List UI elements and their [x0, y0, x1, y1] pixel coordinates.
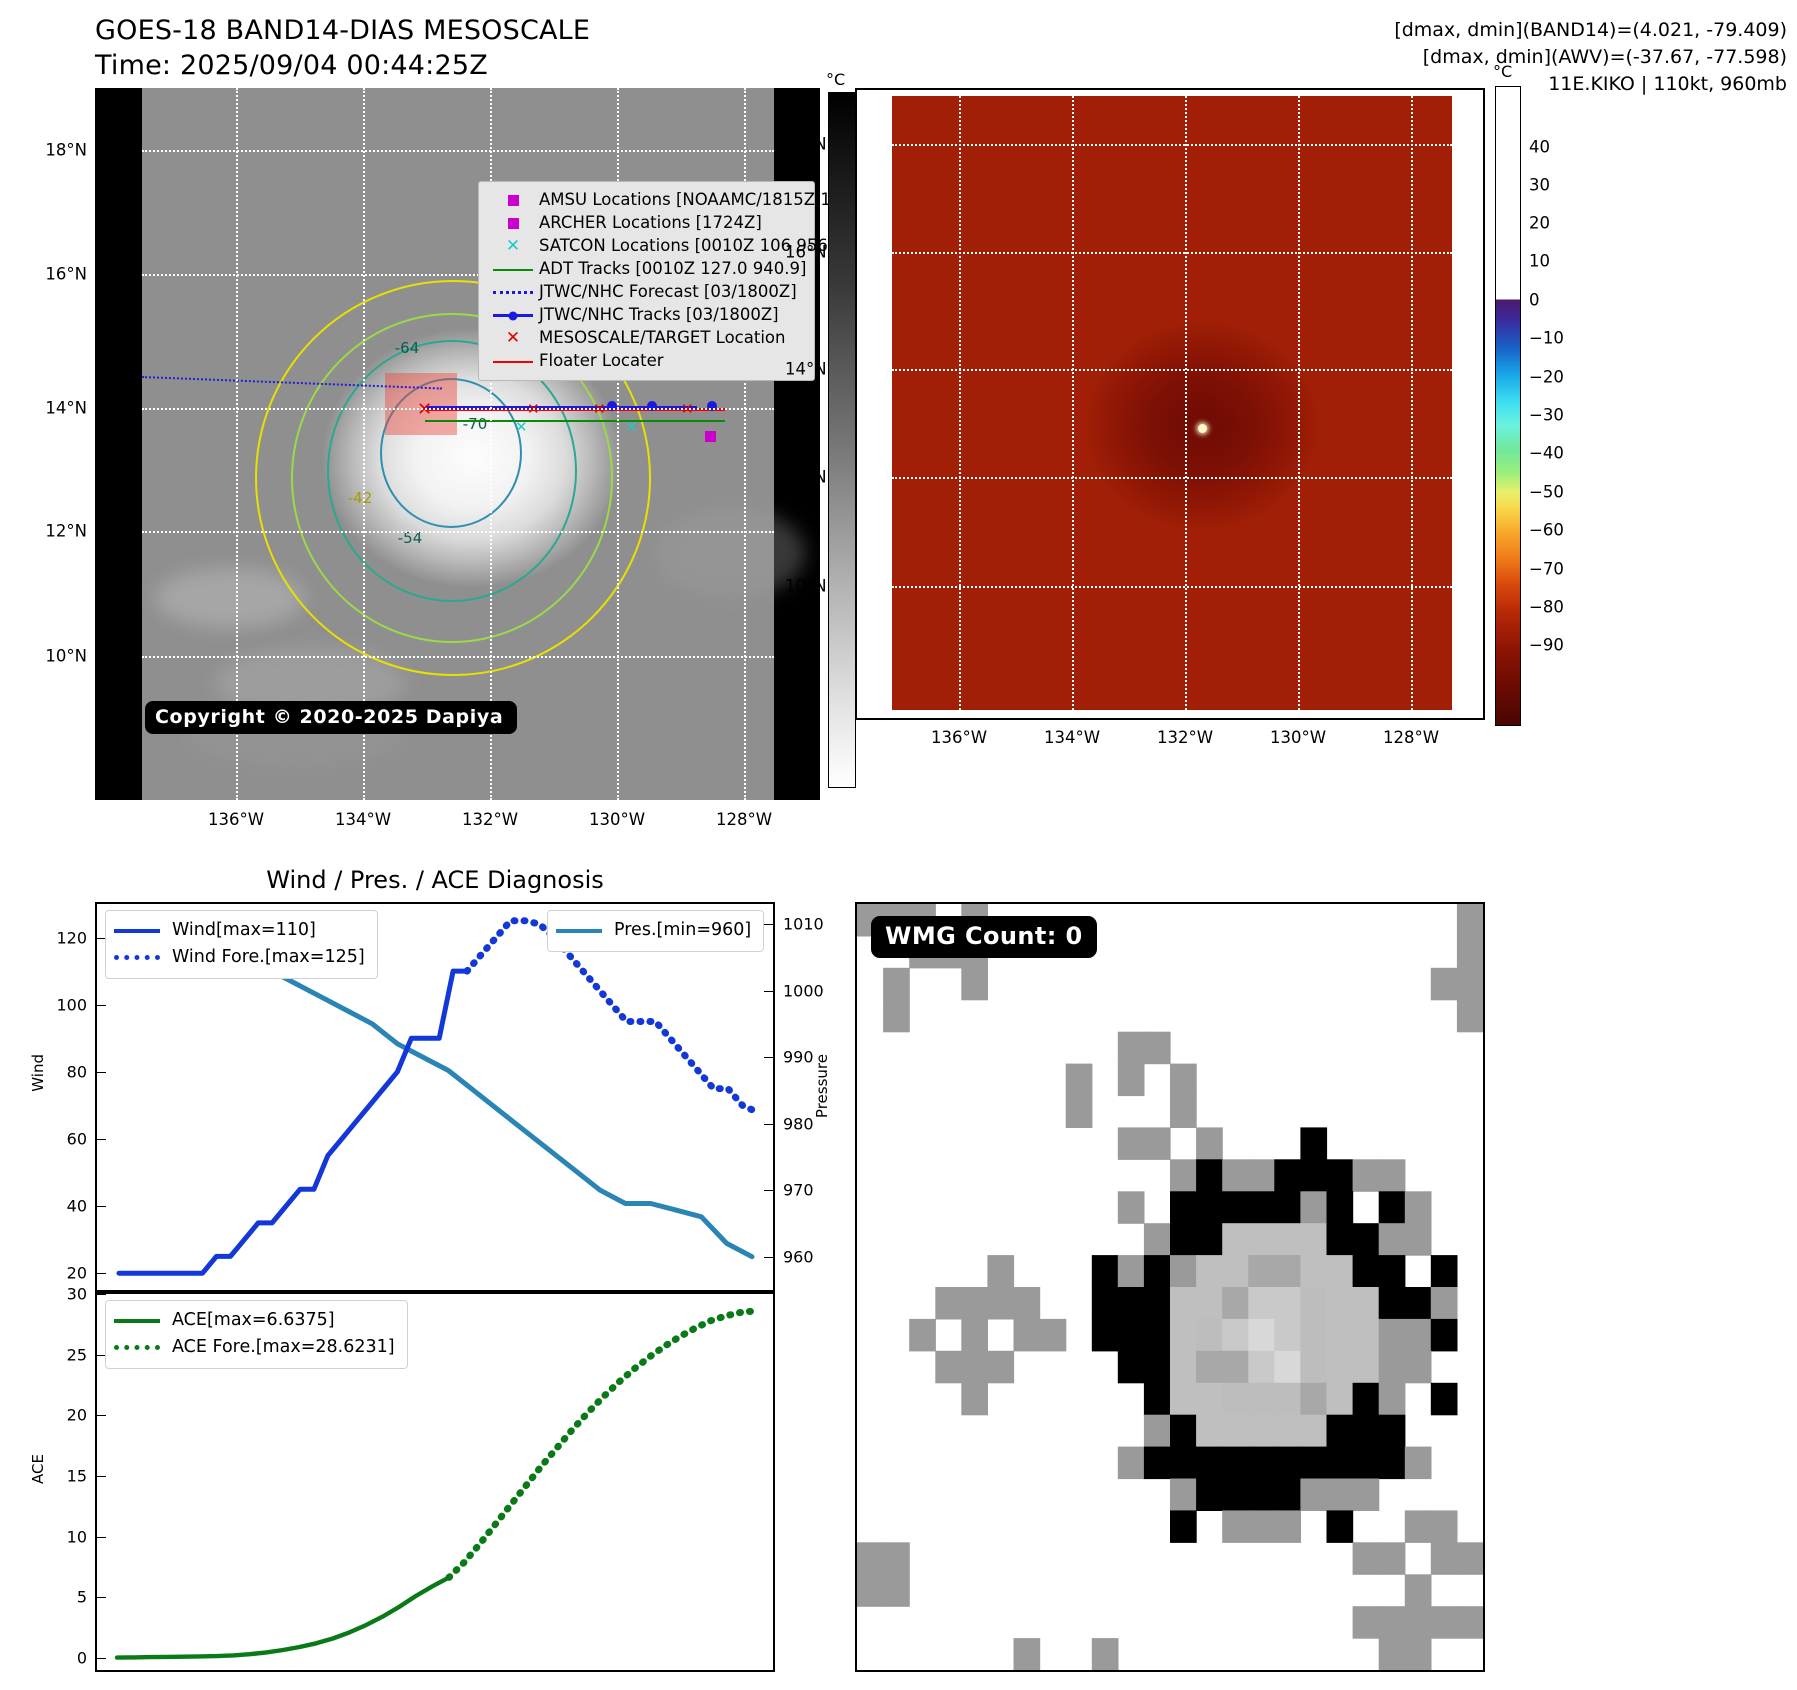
wmg-cell	[961, 1351, 988, 1384]
wmg-cell	[1379, 1351, 1406, 1384]
wmg-cell	[1405, 1223, 1432, 1256]
wmg-cell	[1431, 1255, 1458, 1288]
wmg-cell	[1014, 1638, 1041, 1670]
wmg-cell	[1118, 1032, 1145, 1065]
wmg-cell	[1222, 1287, 1249, 1320]
colorbar-tick: −70	[1529, 559, 1564, 578]
wmg-cell	[1040, 1319, 1067, 1352]
wmg-cell	[1196, 1191, 1223, 1224]
wmg-cell	[1327, 1351, 1354, 1384]
legend-label: JTWC/NHC Forecast [03/1800Z]	[539, 284, 797, 301]
axis-tick-mark	[97, 1294, 106, 1295]
wmg-cell	[961, 1287, 988, 1320]
blue-dotted-line-icon	[487, 291, 539, 294]
wmg-cell	[1144, 1223, 1171, 1256]
ir-map-legend[interactable]: AMSU Locations [NOAAMC/1815Z 104 973] AR…	[478, 181, 815, 381]
ir-enhanced-image	[892, 96, 1452, 710]
wmg-cell	[1196, 1479, 1223, 1512]
wmg-cell	[1353, 1447, 1380, 1480]
gridline-vertical	[1185, 96, 1187, 710]
wmg-cell	[1353, 1255, 1380, 1288]
pressure-legend[interactable]: Pres.[min=960]	[547, 910, 764, 952]
wmg-cell	[1327, 1479, 1354, 1512]
wmg-cell	[1222, 1351, 1249, 1384]
wmg-cell	[935, 1351, 962, 1384]
legend-item-satcon[interactable]: ✕ SATCON Locations [0010Z 106 956]	[487, 235, 808, 258]
gridline-vertical	[363, 88, 365, 800]
wmg-cell	[1379, 1223, 1406, 1256]
gridline-horizontal	[142, 531, 774, 533]
wmg-cell	[1144, 1127, 1171, 1160]
wmg-cell	[1274, 1255, 1301, 1288]
wmg-cell	[1248, 1510, 1275, 1543]
wmg-cell	[1118, 1319, 1145, 1352]
wmg-cell	[1248, 1415, 1275, 1448]
wmg-cell	[1353, 1542, 1380, 1575]
green-line-icon	[487, 269, 539, 271]
gridline-vertical	[236, 88, 238, 800]
wmg-cell	[1405, 1319, 1432, 1352]
lat-tick: 18°N	[45, 141, 87, 160]
ir-greyscale-panel[interactable]: -64 -70 -54 -42 ✕ ✕ ✕ ✕ ✕ ✕ Copyright © …	[95, 88, 820, 800]
wmg-cell	[1196, 1223, 1223, 1256]
wmg-cell	[1170, 1351, 1197, 1384]
axis-tick-mark	[97, 1415, 106, 1416]
red-line-icon	[487, 361, 539, 363]
axis-tick-label: 1010	[783, 914, 824, 933]
lat-tick: 12°N	[45, 522, 87, 541]
wmg-cell	[1379, 1255, 1406, 1288]
wmg-cell	[1431, 1606, 1458, 1639]
wmg-cell	[1118, 1127, 1145, 1160]
stats-awv: [dmax, dmin](AWV)=(-37.67, -77.598)	[1394, 44, 1787, 71]
ace-chart[interactable]: ACE 051015202530 ACE[max=6.6375] ACE For…	[95, 1292, 775, 1672]
axis-tick-label: 100	[56, 995, 87, 1014]
wmg-cell	[1379, 1542, 1406, 1575]
legend-label: Pres.[min=960]	[614, 922, 751, 940]
wmg-cell	[1353, 1287, 1380, 1320]
wmg-cell	[1405, 1606, 1432, 1639]
axis-tick-mark	[97, 1206, 106, 1207]
wmg-cell	[1405, 1447, 1432, 1480]
axis-tick-mark	[764, 991, 773, 992]
wmg-cell	[1144, 1287, 1171, 1320]
legend-item-forecast[interactable]: JTWC/NHC Forecast [03/1800Z]	[487, 281, 808, 304]
wmg-cell	[1274, 1191, 1301, 1224]
wmg-bitmap	[857, 904, 1483, 1670]
wmg-cell	[1092, 1287, 1119, 1320]
axis-tick-label: 960	[783, 1247, 814, 1266]
colorbar-tick: −60	[1529, 521, 1564, 540]
wmg-cell	[1144, 1255, 1171, 1288]
axis-tick-mark	[97, 1597, 106, 1598]
colorbar-tick: 0	[1529, 290, 1540, 309]
axis-tick-mark	[764, 1057, 773, 1058]
wmg-cell	[1248, 1255, 1275, 1288]
wmg-cell	[883, 1000, 910, 1033]
wmg-cell	[1118, 1287, 1145, 1320]
wmg-cell	[1118, 1447, 1145, 1480]
wmg-cell	[1300, 1159, 1327, 1192]
wmg-cell	[1457, 936, 1483, 969]
wmg-cell	[1118, 1191, 1145, 1224]
wmg-cell	[1222, 1383, 1249, 1416]
wmg-cell	[1248, 1159, 1275, 1192]
wmg-cell	[1379, 1159, 1406, 1192]
wmg-cell	[1248, 1479, 1275, 1512]
gridline-horizontal	[142, 408, 774, 410]
legend-label: ADT Tracks [0010Z 127.0 940.9]	[539, 261, 806, 278]
axis-tick-label: 0	[77, 1648, 87, 1667]
wmg-cell	[1248, 1287, 1275, 1320]
wmg-cell	[1170, 1319, 1197, 1352]
cloud-wisp	[655, 508, 805, 598]
wmg-cell	[1118, 1351, 1145, 1384]
wmg-cell	[1066, 1096, 1093, 1129]
wmg-cell	[1196, 1319, 1223, 1352]
axis-tick-mark	[97, 1273, 106, 1274]
legend-item-wind[interactable]: Wind[max=110]	[114, 917, 365, 944]
wmg-cell	[1170, 1064, 1197, 1097]
wmg-cell	[1327, 1415, 1354, 1448]
wmg-cell	[1300, 1479, 1327, 1512]
wmg-cell	[987, 1351, 1014, 1384]
wmg-cell	[1248, 1191, 1275, 1224]
colorbar-tick: 40	[1529, 137, 1550, 156]
page-title: GOES-18 BAND14-DIAS MESOSCALE Time: 2025…	[95, 14, 590, 83]
wmg-cell	[1353, 1223, 1380, 1256]
wmg-cell	[1379, 1606, 1406, 1639]
wmg-cell	[1196, 1351, 1223, 1384]
gridline-horizontal	[142, 150, 774, 152]
axis-tick-label: 120	[56, 928, 87, 947]
satcon-location-marker: ✕	[515, 418, 528, 436]
wmg-cell	[1092, 1638, 1119, 1670]
amsu-location-marker	[705, 431, 716, 442]
wmg-cell	[1222, 1223, 1249, 1256]
axis-tick-label: 15	[67, 1466, 87, 1485]
wmg-cell	[1457, 1606, 1483, 1639]
wmg-cell	[1222, 1191, 1249, 1224]
wmg-cell	[1274, 1447, 1301, 1480]
colorbar-tick: −90	[1529, 636, 1564, 655]
axis-tick-mark	[97, 1476, 106, 1477]
wmg-cell	[1274, 1383, 1301, 1416]
wmg-cell	[1222, 1415, 1249, 1448]
lat-tick: 10°N	[785, 577, 827, 596]
wmg-cell	[1170, 1447, 1197, 1480]
wmg-cell	[1300, 1287, 1327, 1320]
stats-band14: [dmax, dmin](BAND14)=(4.021, -79.409)	[1394, 17, 1787, 44]
wmg-cell	[1405, 1351, 1432, 1384]
wmg-cell	[1274, 1415, 1301, 1448]
axis-tick-label: 20	[67, 1264, 87, 1283]
wmg-cell	[1431, 968, 1458, 1001]
wmg-cell	[1431, 1319, 1458, 1352]
axis-tick-label: 20	[67, 1406, 87, 1425]
green-dotted-line-icon	[114, 1345, 172, 1350]
wmg-cell	[1353, 1159, 1380, 1192]
colorbar-tick: 20	[1529, 213, 1550, 232]
wmg-cell	[1222, 1510, 1249, 1543]
legend-item-tracks[interactable]: JTWC/NHC Tracks [03/1800Z]	[487, 304, 808, 327]
wmg-cell	[1014, 1319, 1041, 1352]
axis-tick-mark	[97, 1537, 106, 1538]
lat-tick: 12°N	[785, 468, 827, 487]
gridline-horizontal	[892, 252, 1452, 254]
wmg-cell	[1248, 1319, 1275, 1352]
wmg-cell	[1379, 1191, 1406, 1224]
wmg-cell	[1327, 1191, 1354, 1224]
pressure-axis-label: Pressure	[813, 1054, 831, 1118]
colorbar-tick: −10	[1529, 329, 1564, 348]
legend-label: Floater Locater	[539, 353, 664, 370]
legend-item-ace-forecast[interactable]: ACE Fore.[max=28.6231]	[114, 1334, 395, 1361]
wmg-cell	[1196, 1127, 1223, 1160]
axis-tick-label: 10	[67, 1527, 87, 1546]
blue-marker-line-icon	[487, 314, 539, 317]
wmg-cell	[1274, 1479, 1301, 1512]
wmg-cell	[1353, 1351, 1380, 1384]
wmg-cell	[857, 1542, 884, 1575]
wmg-cell	[1353, 1479, 1380, 1512]
green-solid-line-icon	[114, 1319, 172, 1323]
wmg-cell	[1405, 1510, 1432, 1543]
wmg-cell	[1170, 1096, 1197, 1129]
wmg-cell	[1300, 1383, 1327, 1416]
colorbar-tick: −50	[1529, 482, 1564, 501]
wmg-cell	[1300, 1191, 1327, 1224]
wmg-cell	[1248, 1447, 1275, 1480]
axis-tick-label: 30	[67, 1285, 87, 1304]
wmg-cell	[1405, 1191, 1432, 1224]
legend-item-archer[interactable]: ARCHER Locations [1724Z]	[487, 212, 808, 235]
wmg-cell	[1170, 1223, 1197, 1256]
wmg-cell	[1144, 1415, 1171, 1448]
axis-tick-label: 5	[77, 1588, 87, 1607]
wmg-cell	[883, 1574, 910, 1607]
axis-tick-mark	[764, 1257, 773, 1258]
wmg-cell	[1327, 1255, 1354, 1288]
axis-tick-label: 970	[783, 1181, 814, 1200]
lon-tick: 136°W	[208, 810, 264, 829]
wmg-cell	[1327, 1223, 1354, 1256]
legend-item-floater[interactable]: Floater Locater	[487, 350, 808, 373]
wmg-cell	[909, 1319, 936, 1352]
wmg-cell	[1222, 1159, 1249, 1192]
wmg-cell	[1300, 1319, 1327, 1352]
legend-label: JTWC/NHC Tracks [03/1800Z]	[539, 307, 779, 324]
wmg-cell	[1431, 1510, 1458, 1543]
colorbar-tick: −20	[1529, 367, 1564, 386]
blue-solid-line-icon	[114, 929, 172, 933]
wmg-cell	[1170, 1415, 1197, 1448]
wmg-cell	[1118, 1255, 1145, 1288]
legend-label: MESOSCALE/TARGET Location	[539, 330, 785, 347]
wmg-cell	[1274, 1510, 1301, 1543]
lat-tick: 14°N	[45, 399, 87, 418]
wmg-cell	[1274, 1351, 1301, 1384]
adt-track-line	[425, 420, 725, 422]
wmg-cell	[1170, 1191, 1197, 1224]
wmg-cell	[1144, 1319, 1171, 1352]
wmg-cell	[1300, 1255, 1327, 1288]
ace-axis-label: ACE	[29, 1454, 47, 1484]
lat-tick: 10°N	[45, 647, 87, 666]
wmg-count-badge: WMG Count: 0	[871, 916, 1097, 958]
wmg-cell	[1457, 1000, 1483, 1033]
wmg-cell	[1196, 1383, 1223, 1416]
wmg-cell	[1405, 1287, 1432, 1320]
wmg-cell	[1222, 1447, 1249, 1480]
wmg-cell	[1327, 1319, 1354, 1352]
wmg-cell	[1274, 1319, 1301, 1352]
legend-item-adt[interactable]: ADT Tracks [0010Z 127.0 940.9]	[487, 258, 808, 281]
legend-label: ACE[max=6.6375]	[172, 1312, 335, 1330]
colorbar-units: °C	[826, 70, 845, 89]
colorbar-tick: 30	[1529, 175, 1550, 194]
lon-tick: 134°W	[1044, 728, 1100, 747]
gridline-vertical	[1298, 96, 1300, 710]
blue-dotted-line-icon	[114, 955, 172, 960]
contour-label-64: -64	[395, 339, 420, 357]
lon-tick: 134°W	[335, 810, 391, 829]
gridline-horizontal	[892, 144, 1452, 146]
lat-tick: 16°N	[785, 243, 827, 262]
wmg-cell	[1353, 1606, 1380, 1639]
gridline-horizontal	[892, 477, 1452, 479]
lat-tick: 16°N	[45, 265, 87, 284]
wmg-cell	[1222, 1319, 1249, 1352]
gridline-vertical	[1072, 96, 1074, 710]
colorbar-tick: −30	[1529, 405, 1564, 424]
wmg-cell	[1222, 1479, 1249, 1512]
wmg-cell	[1457, 968, 1483, 1001]
legend-item-wind-forecast[interactable]: Wind Fore.[max=125]	[114, 944, 365, 971]
wmg-cell	[1405, 1638, 1432, 1670]
satellite-title: GOES-18 BAND14-DIAS MESOSCALE	[95, 14, 590, 49]
colorbar-tick: −40	[1529, 444, 1564, 463]
axis-tick-label: 40	[67, 1197, 87, 1216]
wmg-cell	[1170, 1479, 1197, 1512]
wmg-cell	[1092, 1319, 1119, 1352]
legend-label: ARCHER Locations [1724Z]	[539, 215, 762, 232]
contour-label-70: -70	[463, 415, 488, 433]
gridline-horizontal	[142, 656, 774, 658]
wmg-cell	[1327, 1510, 1354, 1543]
wmg-cell	[1092, 1255, 1119, 1288]
wmg-cell	[883, 1542, 910, 1575]
wmg-cell	[1222, 1255, 1249, 1288]
wmg-cell	[1379, 1287, 1406, 1320]
storm-eye-marker	[1198, 424, 1207, 433]
wmg-cell	[1379, 1319, 1406, 1352]
cyan-x-icon: ✕	[487, 238, 539, 255]
wmg-cell	[1405, 1574, 1432, 1607]
teal-solid-line-icon	[556, 929, 614, 933]
wmg-cell	[1431, 1383, 1458, 1416]
wmg-cell	[1196, 1415, 1223, 1448]
wind-pressure-chart[interactable]: Wind Pressure 20406080100120 96097098099…	[95, 902, 775, 1292]
ace-legend[interactable]: ACE[max=6.6375] ACE Fore.[max=28.6231]	[105, 1300, 408, 1369]
axis-tick-mark	[97, 1005, 106, 1006]
magenta-square-icon	[487, 195, 539, 206]
wmg-cell	[1353, 1415, 1380, 1448]
wmg-cell	[857, 1574, 884, 1607]
wmg-cell	[883, 968, 910, 1001]
axis-tick-mark	[764, 1190, 773, 1191]
axis-tick-mark	[764, 1124, 773, 1125]
wmg-cell	[1300, 1351, 1327, 1384]
wmg-cell	[1327, 1287, 1354, 1320]
legend-item-mesoscale[interactable]: ✕ MESOSCALE/TARGET Location	[487, 327, 808, 350]
wmg-cell	[1196, 1287, 1223, 1320]
copyright-notice: Copyright © 2020-2025 Dapiya	[145, 701, 517, 734]
lat-tick: 18°N	[785, 135, 827, 154]
colorbar-enhanced[interactable]: °C 40 30 20 10 0 −10 −20 −30 −40 −50 −60…	[1495, 62, 1535, 742]
colorbar-ticks: 40 30 20 10 0 −10 −20 −30 −40 −50 −60 −7…	[828, 92, 856, 788]
legend-item-ace[interactable]: ACE[max=6.6375]	[114, 1307, 395, 1334]
wmg-cell	[1300, 1127, 1327, 1160]
contour-label-42: -42	[348, 489, 373, 507]
wmg-cell	[1274, 1159, 1301, 1192]
wmg-cell	[1274, 1287, 1301, 1320]
wmg-cell	[1431, 1287, 1458, 1320]
wmg-cell	[1353, 1319, 1380, 1352]
lon-tick: 128°W	[1383, 728, 1439, 747]
legend-item-pressure[interactable]: Pres.[min=960]	[556, 917, 751, 944]
wmg-cell	[1327, 1447, 1354, 1480]
wmg-cell	[1170, 1383, 1197, 1416]
wind-legend[interactable]: Wind[max=110] Wind Fore.[max=125]	[105, 910, 378, 979]
wmg-cell	[961, 1383, 988, 1416]
wmg-cell	[1014, 1287, 1041, 1320]
satcon-location-marker: ✕	[625, 418, 638, 436]
wmg-panel[interactable]: WMG Count: 0	[855, 902, 1485, 1672]
timestamp: Time: 2025/09/04 00:44:25Z	[95, 49, 590, 84]
legend-item-amsu[interactable]: AMSU Locations [NOAAMC/1815Z 104 973]	[487, 189, 808, 212]
legend-label: ACE Fore.[max=28.6231]	[172, 1339, 395, 1357]
wmg-cell	[1300, 1223, 1327, 1256]
wmg-cell	[1457, 1542, 1483, 1575]
wmg-cell	[1457, 904, 1483, 937]
magenta-square-icon	[487, 218, 539, 229]
axis-tick-mark	[97, 1072, 106, 1073]
wmg-cell	[1144, 1032, 1171, 1065]
ir-enhanced-panel[interactable]: 18°N 16°N 14°N 12°N 10°N 136°W 134°W 132…	[855, 88, 1485, 720]
wmg-cell	[987, 1255, 1014, 1288]
wmg-cell	[1170, 1255, 1197, 1288]
colorbar-ticks: 40 30 20 10 0 −10 −20 −30 −40 −50 −60 −7…	[1495, 86, 1521, 726]
lat-tick: 14°N	[785, 360, 827, 379]
wmg-cell	[1170, 1510, 1197, 1543]
wmg-cell	[1196, 1159, 1223, 1192]
wmg-cell	[935, 1287, 962, 1320]
wmg-cell	[1327, 1383, 1354, 1416]
wmg-cell	[1327, 1159, 1354, 1192]
wmg-cell	[1274, 1223, 1301, 1256]
axis-tick-label: 60	[67, 1129, 87, 1148]
gridline-horizontal	[892, 369, 1452, 371]
wmg-cell	[1248, 1383, 1275, 1416]
wmg-cell	[1248, 1351, 1275, 1384]
gridline-vertical	[959, 96, 961, 710]
diagnosis-title: Wind / Pres. / ACE Diagnosis	[95, 866, 775, 894]
wmg-cell	[1300, 1447, 1327, 1480]
wmg-cell	[1379, 1447, 1406, 1480]
wmg-cell	[1431, 1542, 1458, 1575]
wmg-cell	[1300, 1415, 1327, 1448]
